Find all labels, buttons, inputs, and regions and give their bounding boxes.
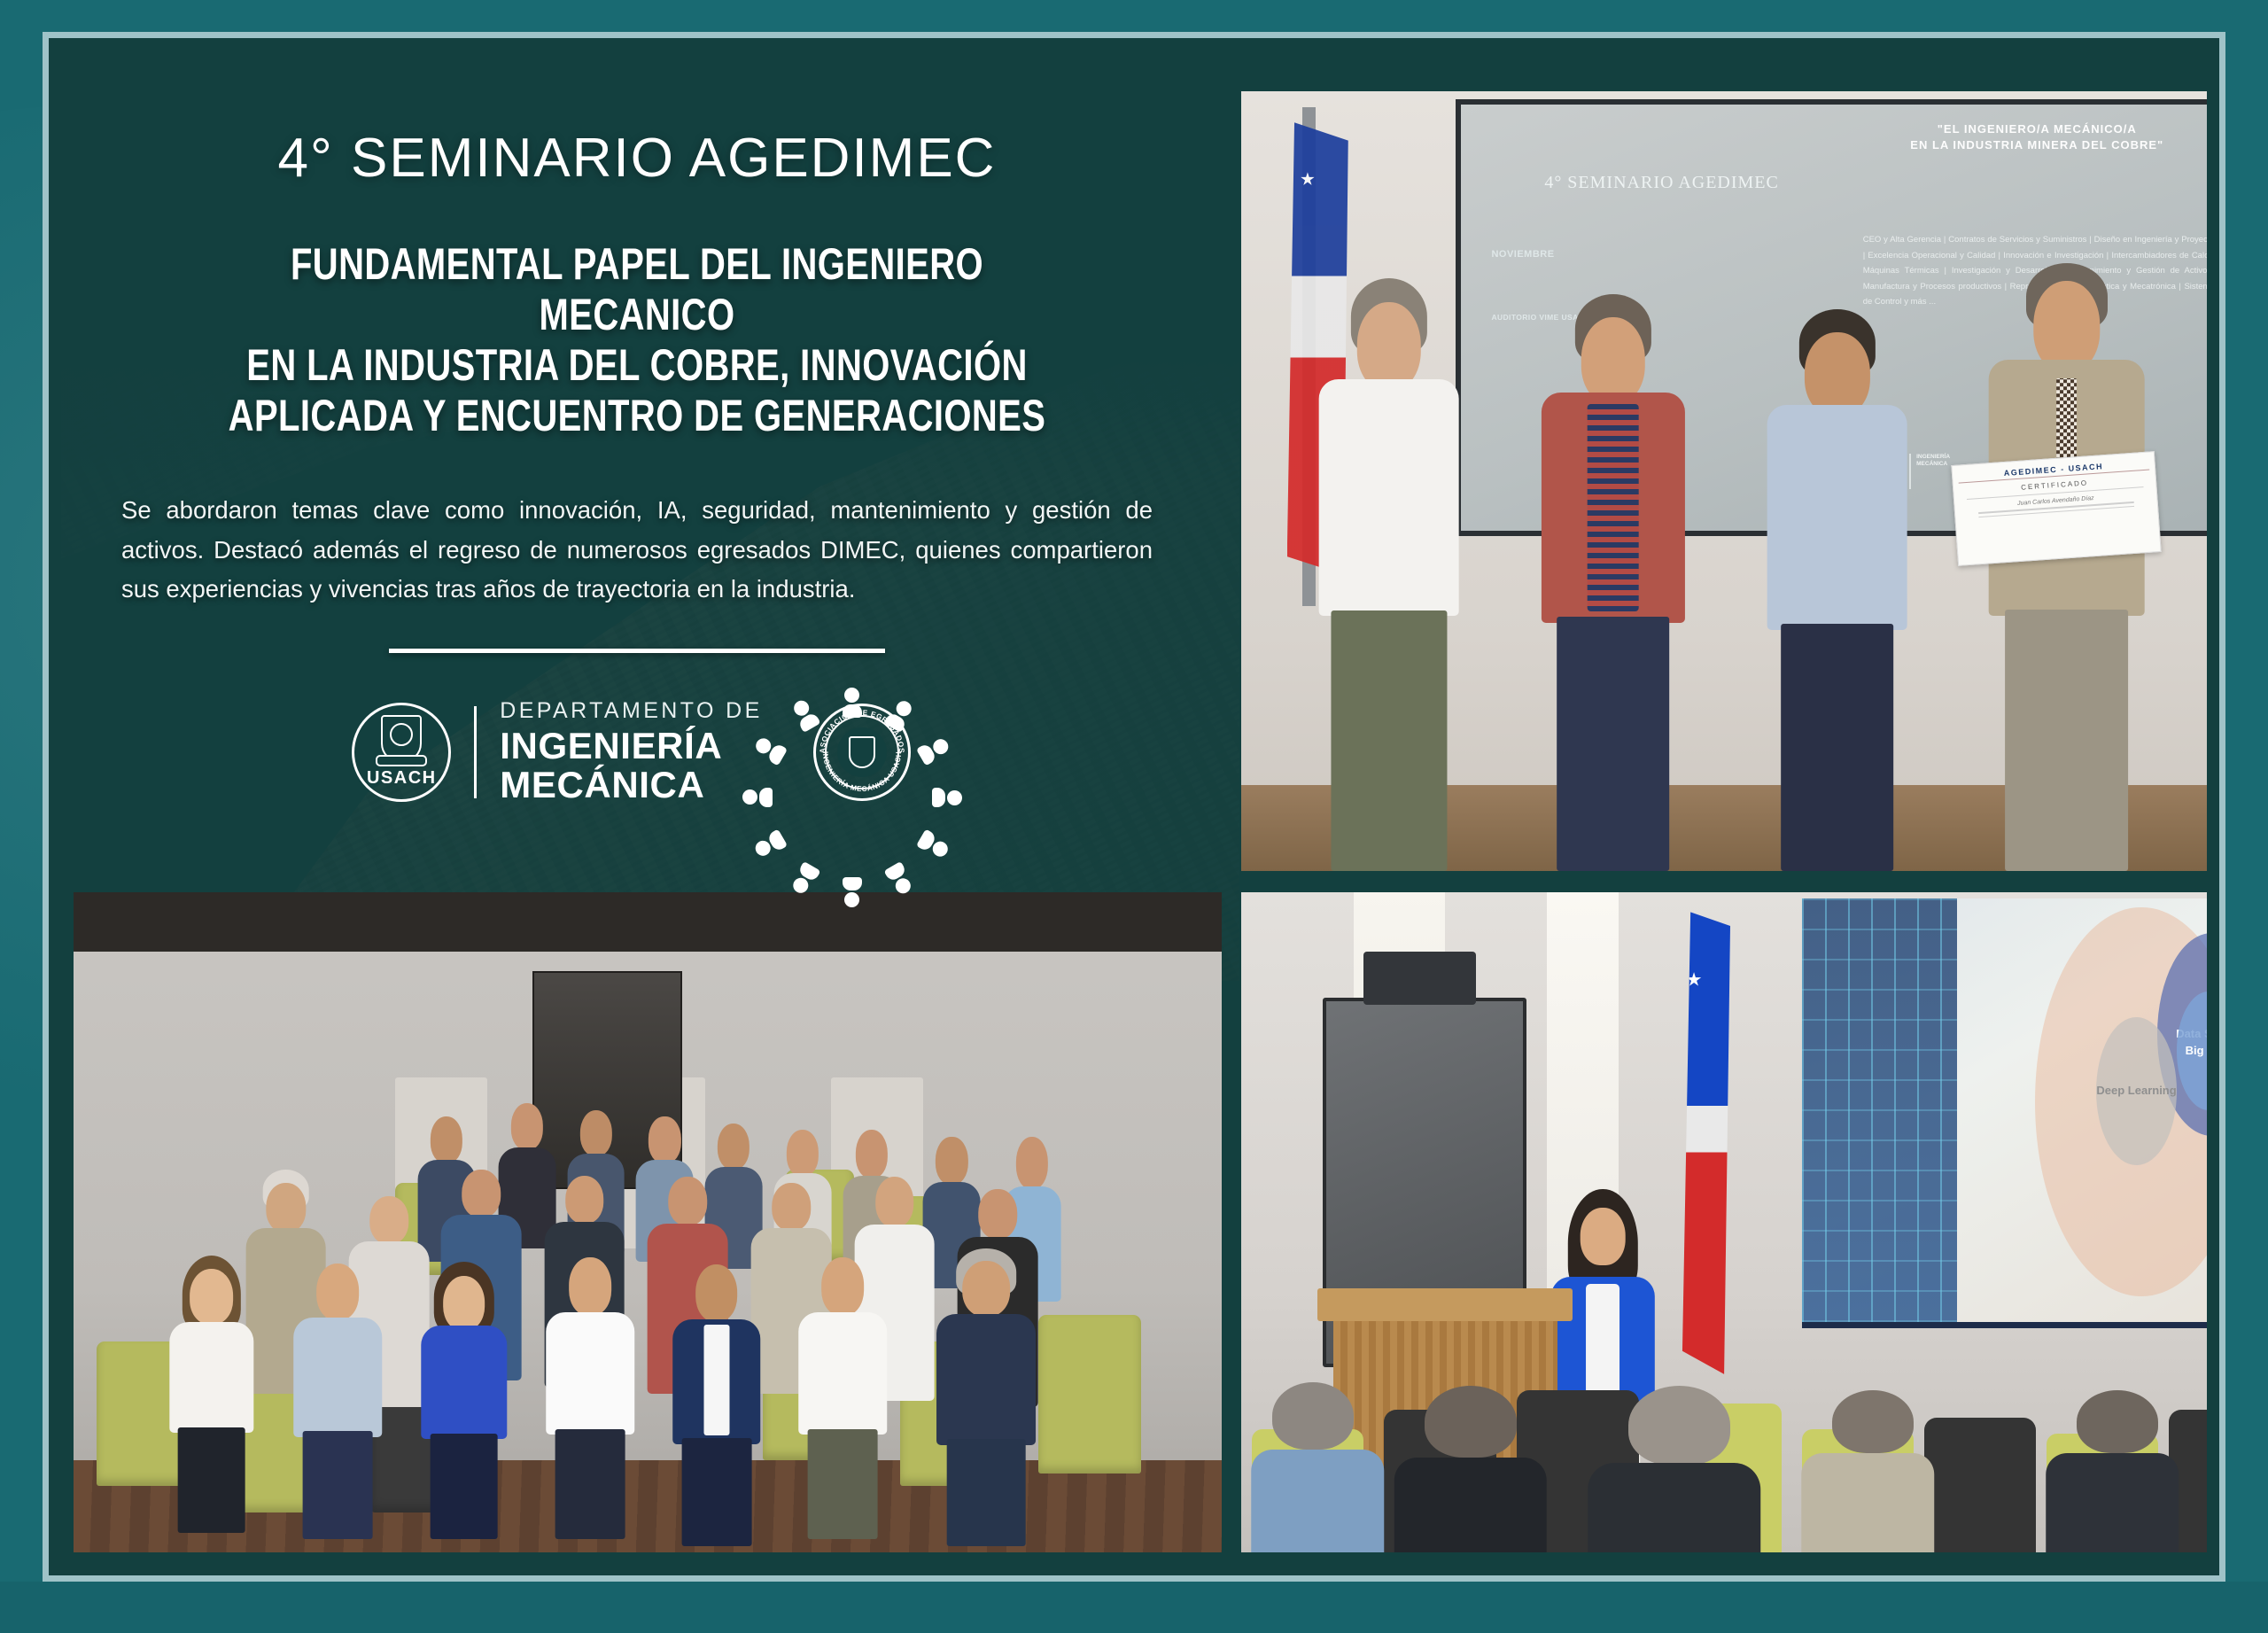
audience-figure [1252,1450,1385,1552]
body-paragraph: Se abordaron temas clave como innovación… [121,491,1153,610]
audience-foreground [1241,1355,2207,1553]
person-silhouette-icon [932,788,962,807]
person-silhouette-icon [742,788,773,807]
person-silhouette-icon [843,877,862,907]
person-figure [796,1248,889,1539]
person-figure [1537,294,1690,871]
person-silhouette-icon [752,828,788,860]
audience-figure [1802,1453,1935,1552]
legs [1557,617,1670,871]
usach-seal-word: USACH [367,768,437,789]
audience-figure [2047,1453,2179,1552]
audience-head [1272,1382,1354,1450]
department-line-3: MECÁNICA [500,766,762,804]
audience-head [1832,1390,1914,1454]
head [1805,332,1870,416]
legs [1331,610,1447,871]
head [1581,317,1645,404]
circuit-graphic [1802,898,1958,1321]
person-figure [1313,278,1466,871]
audience-figure [1394,1458,1548,1552]
poster-canvas: 4° SEMINARIO AGEDIMEC FUNDAMENTAL PAPEL … [0,0,2268,1633]
horizontal-rule [389,649,885,653]
audience-head [1628,1386,1730,1465]
person-figure [544,1248,636,1539]
logo-divider [474,706,477,798]
projected-slide-bottom: Data Science Big Data Deep Learning [1802,898,2208,1327]
slide-participants-logo: INGENIERÍA MECÁNICA [1909,454,1957,489]
person-figure [1985,263,2148,871]
torso [1318,379,1459,617]
slide-month: NOVIEMBRE [1491,249,1554,260]
poster-frame: 4° SEMINARIO AGEDIMEC FUNDAMENTAL PAPEL … [43,32,2225,1582]
person-figure [935,1248,1038,1545]
torso [1767,405,1907,629]
text-column: 4° SEMINARIO AGEDIMEC FUNDAMENTAL PAPEL … [61,51,1213,888]
legs [2005,610,2129,871]
venn-circle-deep-learning: Deep Learning [2096,1017,2177,1165]
agedimec-seal-icon: ASOCIACIÓN DE EGRESADOSINGENIERÍA MECÁNI… [802,692,922,813]
usach-department-logo: USACH DEPARTAMENTO DE INGENIERÍA MECÁNIC… [352,700,762,804]
photo-group-attendees [74,892,1222,1552]
logo-row: USACH DEPARTAMENTO DE INGENIERÍA MECÁNIC… [113,692,1161,813]
audience-head [2077,1390,2158,1454]
person-figure [291,1256,384,1539]
head [1581,1208,1626,1266]
page-subtitle: FUNDAMENTAL PAPEL DEL INGENIERO MECANICO… [217,239,1056,441]
page-title: 4° SEMINARIO AGEDIMEC [113,127,1161,190]
person-figure [166,1256,258,1533]
department-line-1: DEPARTAMENTO DE [500,700,762,722]
usach-seal-icon: USACH [352,703,451,802]
head [2033,281,2100,372]
person-figure [418,1262,510,1539]
slide-main-title: 4° SEMINARIO AGEDIMEC [1491,173,1831,193]
audience-figure [1588,1463,1761,1552]
certificate: AGEDIMEC - USACH CERTIFICADO Juan Carlos… [1951,451,2161,566]
poster-frame-inner: 4° SEMINARIO AGEDIMEC FUNDAMENTAL PAPEL … [61,51,2207,1563]
person-figure [671,1256,763,1546]
head [1357,302,1421,391]
photo-speaker-presentation: Data Science Big Data Deep Learning [1241,892,2207,1552]
person-figure [1761,309,1915,871]
podium-top [1317,1288,1573,1321]
svg-text:INGENIERÍA MECÁNICA USACH: INGENIERÍA MECÁNICA USACH [821,750,903,793]
audience-head [1425,1386,1517,1457]
svg-text:ASOCIACIÓN DE EGRESADOS: ASOCIACIÓN DE EGRESADOS [819,709,905,754]
department-line-2: INGENIERÍA [500,727,762,765]
slide-right-title: "EL INGENIERO/A MECÁNICO/A EN LA INDUSTR… [1863,121,2207,152]
person-silhouette-icon [916,828,951,860]
photo-award-ceremony: 4° SEMINARIO AGEDIMEC NOVIEMBRE AUDITORI… [1241,91,2207,871]
legs [1781,624,1894,871]
projector-icon [1363,952,1476,1005]
venn-diagram: Data Science Big Data Deep Learning [1939,898,2207,1321]
usach-shield-icon [381,715,422,763]
shirt [1587,404,1639,611]
bottom-color-band [0,1582,2268,1633]
